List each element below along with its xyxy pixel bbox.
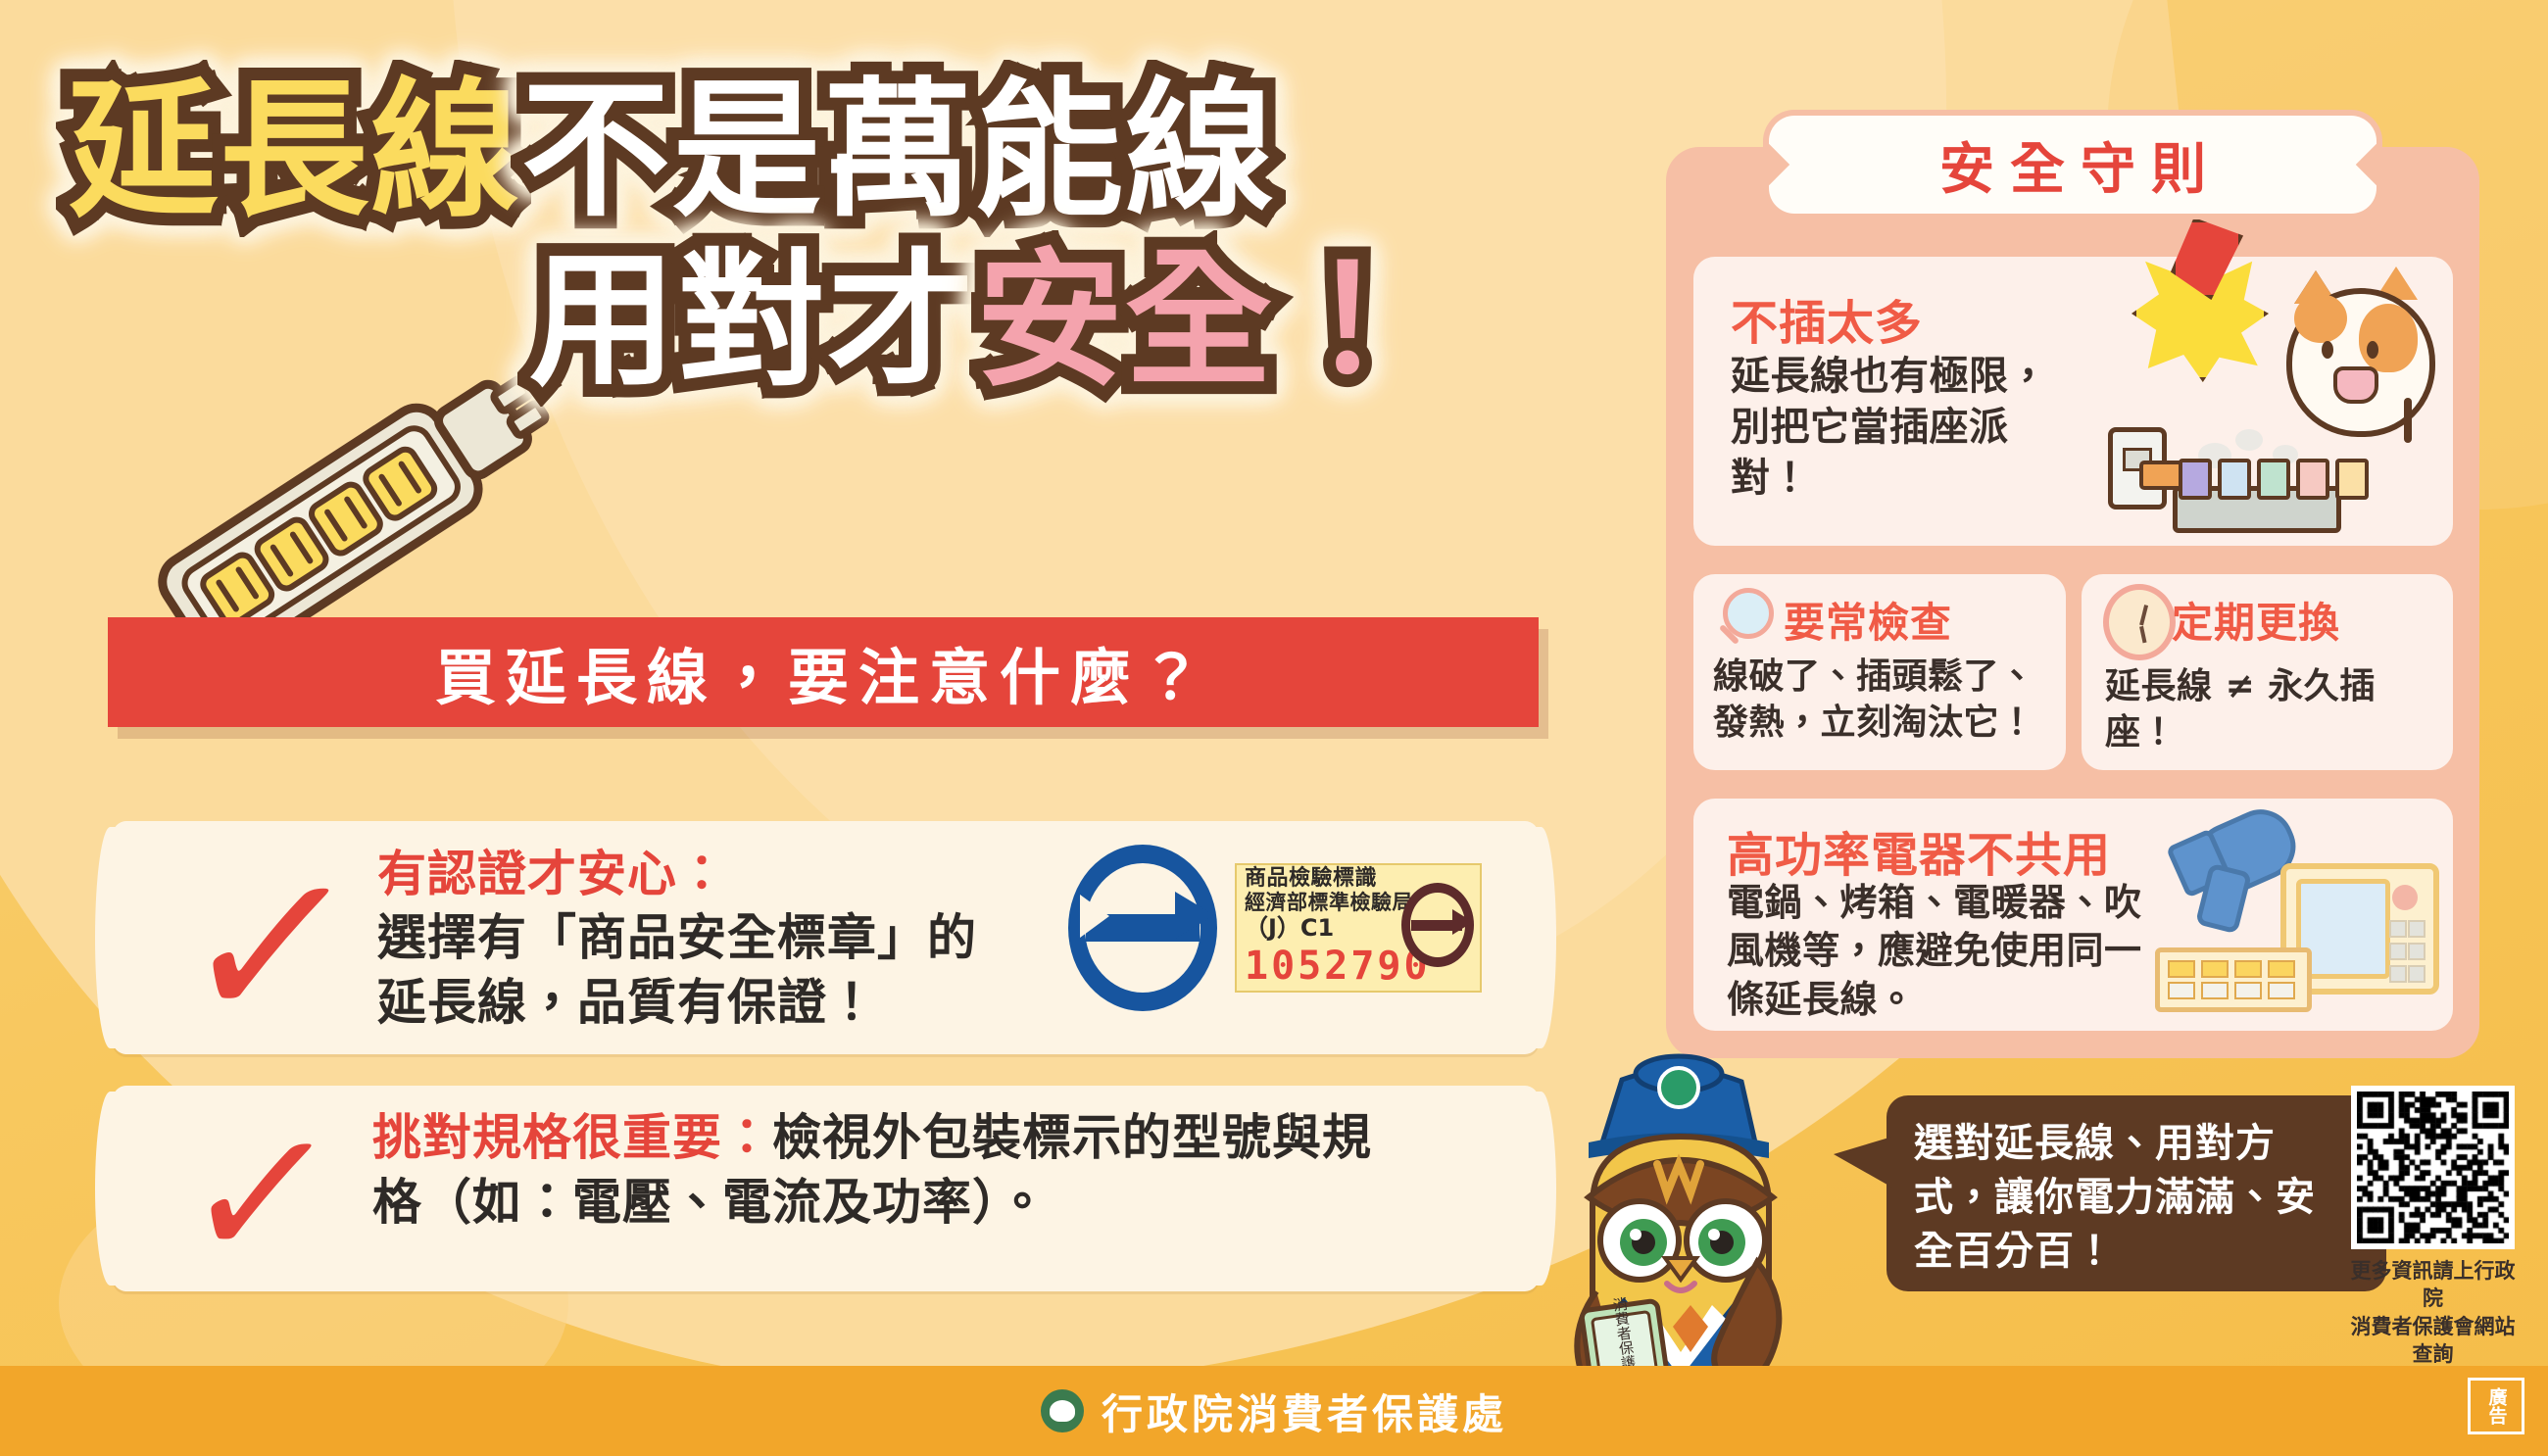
speech-bubble-tail	[1834, 1137, 1892, 1188]
headline-part-3: 用對才	[529, 248, 976, 395]
ad-label-text: 廣告	[2487, 1387, 2506, 1425]
safety-card-1: 不插太多 延長線也有極限，別把它當插座派對！	[1693, 257, 2453, 546]
ad-label-box: 廣告	[2468, 1378, 2524, 1434]
question-banner: 買延長線，要注意什麼？	[108, 617, 1539, 727]
executive-yuan-cpc-logo-icon	[1041, 1389, 1084, 1432]
safety-card-2-text: 線破了、插頭鬆了、發熱，立刻淘汰它！	[1713, 655, 2051, 747]
checklist-1-line-2: 延長線，品質有保證！	[377, 970, 1132, 1035]
checklist-1-heading: 有認證才安心：	[377, 835, 1132, 905]
cns-commodity-safety-mark-icon	[1068, 845, 1217, 1011]
safety-card-3-text: 延長線 ≠ 永久插座！	[2105, 664, 2438, 756]
safety-panel-title: 安全守則	[1769, 116, 2376, 214]
check-mark-icon: ✓	[175, 1105, 347, 1284]
checklist-1-body: 有認證才安心： 選擇有「商品安全標章」的 延長線，品質有保證！	[377, 835, 1132, 1035]
safety-card-4-text: 電鍋、烤箱、電暖器、吹風機等，應避免使用同一條延長線。	[1727, 879, 2158, 1024]
footer-bar: 行政院消費者保護處	[0, 1366, 2548, 1456]
shocked-cat-overloaded-powerstrip-illustration	[2102, 239, 2445, 533]
headline-part-4: 安全！	[976, 248, 1423, 395]
qr-code[interactable]	[2351, 1086, 2515, 1249]
safety-card-4-title: 高功率電器不共用	[1727, 816, 2111, 885]
bsmi-inspection-label: 商品檢驗標識 經濟部標準檢驗局 （J）C1 1052790	[1235, 863, 1482, 993]
safety-card-3-title: 定期更換	[2172, 590, 2340, 650]
speech-bubble-text: 選對延長線、用對方式，讓你電力滿滿、安全百分百！	[1914, 1117, 2355, 1280]
checklist-2-line-2: 格（如：電壓、電流及功率）。	[372, 1170, 1509, 1235]
safety-card-2-title: 要常檢查	[1784, 590, 1952, 650]
qr-section: 更多資訊請上行政院 消費者保護會網站查詢	[2342, 1086, 2523, 1368]
headline: 延長線不是萬能線 用對才安全！	[69, 76, 1597, 395]
safety-card-4: 高功率電器不共用 電鍋、烤箱、電暖器、吹風機等，應避免使用同一條延長線。	[1693, 799, 2453, 1031]
speech-bubble: 選對延長線、用對方式，讓你電力滿滿、安全百分百！	[1886, 1095, 2386, 1291]
poster-canvas: 延長線不是萬能線 用對才安全！ 買延長線，要注意什麼？ ✓ 有認證才安心： 選擇…	[0, 0, 2548, 1456]
magnifier-icon	[1717, 588, 1776, 649]
safety-card-3: 定期更換 延長線 ≠ 永久插座！	[2082, 574, 2453, 770]
safety-panel-title-text: 安全守則	[1924, 125, 2222, 205]
checklist-2-body: 挑對規格很重要：檢視外包裝標示的型號與規 格（如：電壓、電流及功率）。	[372, 1105, 1509, 1235]
checklist-2-line-1: 挑對規格很重要：檢視外包裝標示的型號與規	[372, 1105, 1509, 1170]
qr-caption: 更多資訊請上行政院 消費者保護會網站查詢	[2342, 1257, 2523, 1368]
safety-card-1-title: 不插太多	[1731, 284, 1923, 353]
qr-caption-line-1: 更多資訊請上行政院	[2342, 1257, 2523, 1313]
certification-marks: 商品檢驗標識 經濟部標準檢驗局 （J）C1 1052790	[1068, 845, 1482, 1011]
bsmi-mark-icon	[1401, 883, 1474, 967]
check-mark-icon: ✓	[171, 845, 369, 1050]
safety-card-2: 要常檢查 線破了、插頭鬆了、發熱，立刻淘汰它！	[1693, 574, 2066, 770]
question-banner-text: 買延長線，要注意什麼？	[435, 628, 1211, 716]
checklist-1-line-1: 選擇有「商品安全標章」的	[377, 905, 1132, 970]
hair-dryer-microwave-powerstrip-illustration	[2155, 812, 2439, 1018]
checklist-2-heading: 挑對規格很重要：	[372, 1109, 772, 1166]
headline-part-2: 不是萬能線	[521, 76, 1276, 225]
checklist-2-text-1: 檢視外包裝標示的型號與規	[772, 1109, 1372, 1166]
footer-organization: 行政院消費者保護處	[1102, 1382, 1507, 1441]
safety-card-1-text: 延長線也有極限，別把它當插座派對！	[1731, 351, 2074, 504]
headline-part-1: 延長線	[69, 76, 521, 225]
clock-icon	[2103, 584, 2176, 660]
qr-caption-line-2: 消費者保護會網站查詢	[2342, 1313, 2523, 1369]
